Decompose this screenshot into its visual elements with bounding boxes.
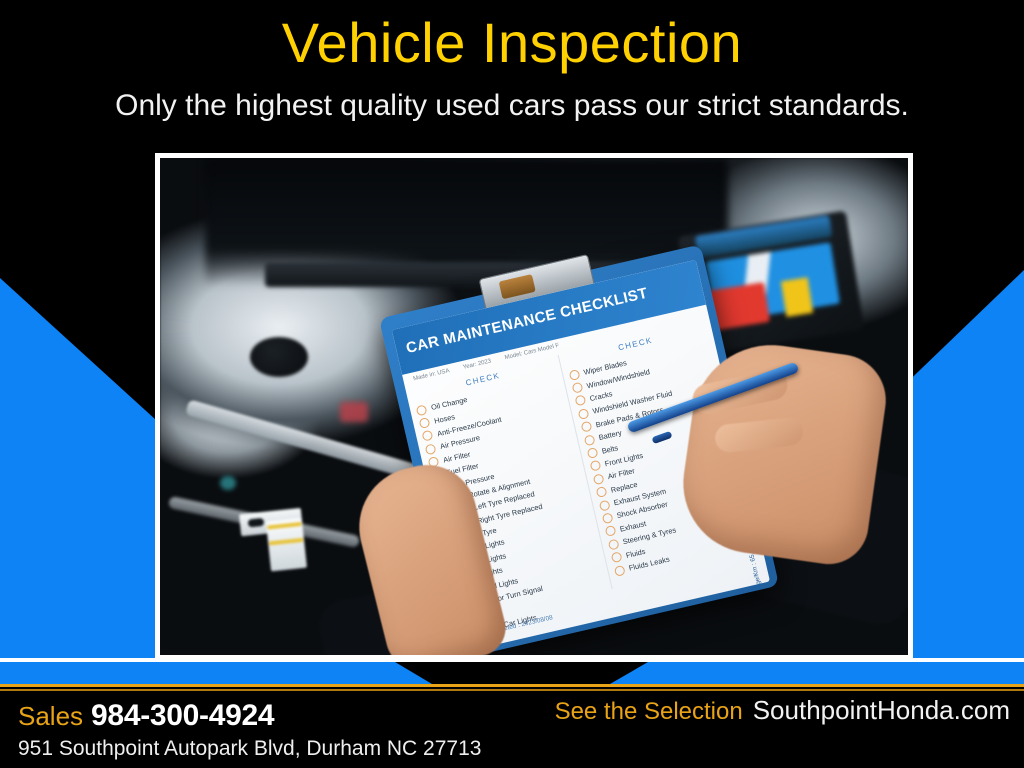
checkbox-circle-icon[interactable] [580, 421, 592, 433]
checkbox-circle-icon[interactable] [416, 404, 428, 416]
checkbox-circle-icon[interactable] [604, 526, 616, 538]
checkbox-circle-icon[interactable] [425, 443, 437, 455]
checkbox-circle-icon[interactable] [419, 417, 431, 429]
footer-bar: Sales 984-300-4924 951 Southpoint Autopa… [0, 691, 1024, 768]
photo-band-top-edge [0, 658, 1024, 662]
poster-canvas: Vehicle Inspection Only the highest qual… [0, 0, 1024, 768]
checkbox-circle-icon[interactable] [583, 434, 595, 446]
footer-cta-group: See the Selection SouthpointHonda.com [555, 695, 1010, 726]
checkbox-circle-icon[interactable] [589, 460, 601, 472]
inspection-photo-frame: CAR MAINTENANCE CHECKLIST Made in: USA Y… [155, 153, 913, 660]
checkbox-circle-icon[interactable] [568, 369, 580, 381]
footer-address: 951 Southpoint Autopark Blvd, Durham NC … [18, 737, 481, 761]
checkbox-circle-icon[interactable] [611, 552, 623, 564]
footer-sales-line: Sales 984-300-4924 [18, 699, 274, 733]
engine-cap-icon [250, 337, 308, 377]
checklist-meta-year: Year: 2023 [463, 359, 492, 371]
checkbox-circle-icon[interactable] [614, 565, 626, 577]
checkbox-circle-icon[interactable] [577, 408, 589, 420]
page-title: Vehicle Inspection [0, 12, 1024, 74]
engine-teal-part [220, 476, 236, 490]
checkbox-circle-icon[interactable] [571, 382, 583, 394]
blue-band [0, 662, 1024, 684]
checkbox-circle-icon[interactable] [586, 447, 598, 459]
checkbox-circle-icon[interactable] [595, 487, 607, 499]
footer-cta-label: See the Selection [555, 698, 743, 726]
footer-sales-label: Sales [18, 701, 83, 732]
orange-divider [0, 684, 1024, 687]
checkbox-circle-icon[interactable] [574, 395, 586, 407]
checkbox-circle-icon[interactable] [592, 473, 604, 485]
footer-website-link[interactable]: SouthpointHonda.com [753, 695, 1010, 726]
blue-wedge-left [0, 270, 156, 684]
battery-label-yellow [781, 277, 813, 317]
footer-phone-number[interactable]: 984-300-4924 [91, 699, 274, 733]
inspection-photo: CAR MAINTENANCE CHECKLIST Made in: USA Y… [160, 158, 908, 655]
warning-tag [239, 508, 307, 574]
checkbox-circle-icon[interactable] [422, 430, 434, 442]
page-subtitle: Only the highest quality used cars pass … [0, 88, 1024, 124]
checkbox-circle-icon[interactable] [598, 500, 610, 512]
checkbox-circle-icon[interactable] [607, 539, 619, 551]
checkbox-circle-icon[interactable] [601, 513, 613, 525]
engine-red-part [340, 402, 368, 422]
